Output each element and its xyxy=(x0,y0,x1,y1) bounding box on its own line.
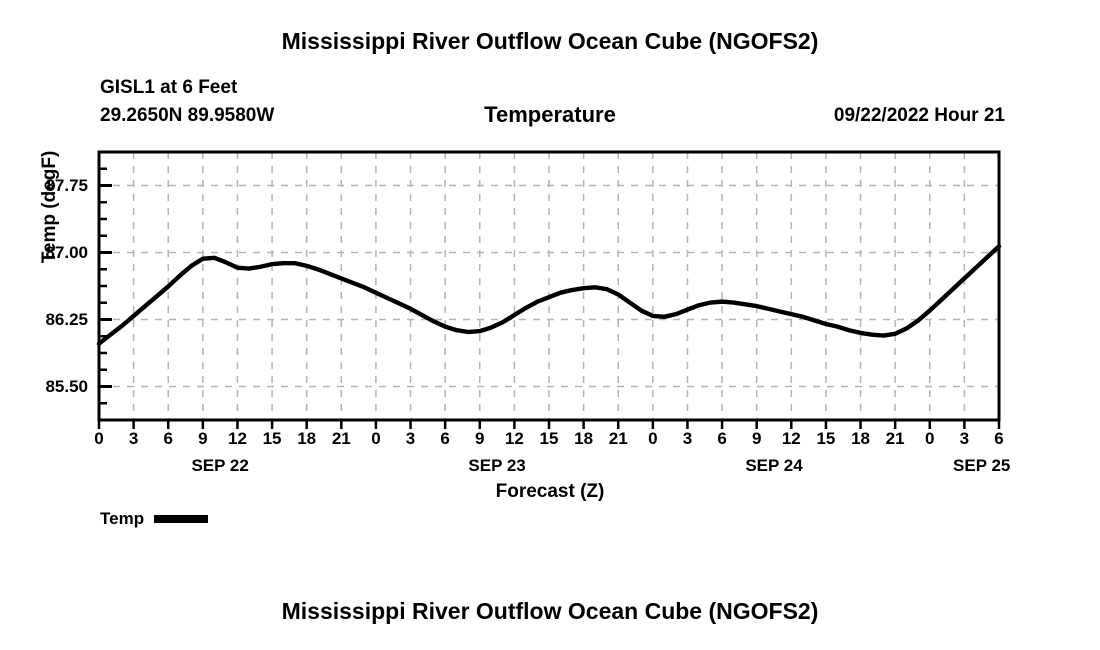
chart-legend: Temp xyxy=(100,509,208,529)
x-day-label: SEP 25 xyxy=(922,456,1042,476)
x-axis-tick-labels: 036912151821036912151821036912151821036S… xyxy=(0,0,1100,650)
x-day-label: SEP 22 xyxy=(160,456,280,476)
x-day-label: SEP 24 xyxy=(714,456,834,476)
legend-swatch-temp xyxy=(154,515,208,523)
page-title-bottom: Mississippi River Outflow Ocean Cube (NG… xyxy=(0,598,1100,625)
legend-label-temp: Temp xyxy=(100,509,144,529)
x-day-label: SEP 23 xyxy=(437,456,557,476)
x-tick-label: 6 xyxy=(979,429,1019,449)
chart-page: Mississippi River Outflow Ocean Cube (NG… xyxy=(0,0,1100,650)
